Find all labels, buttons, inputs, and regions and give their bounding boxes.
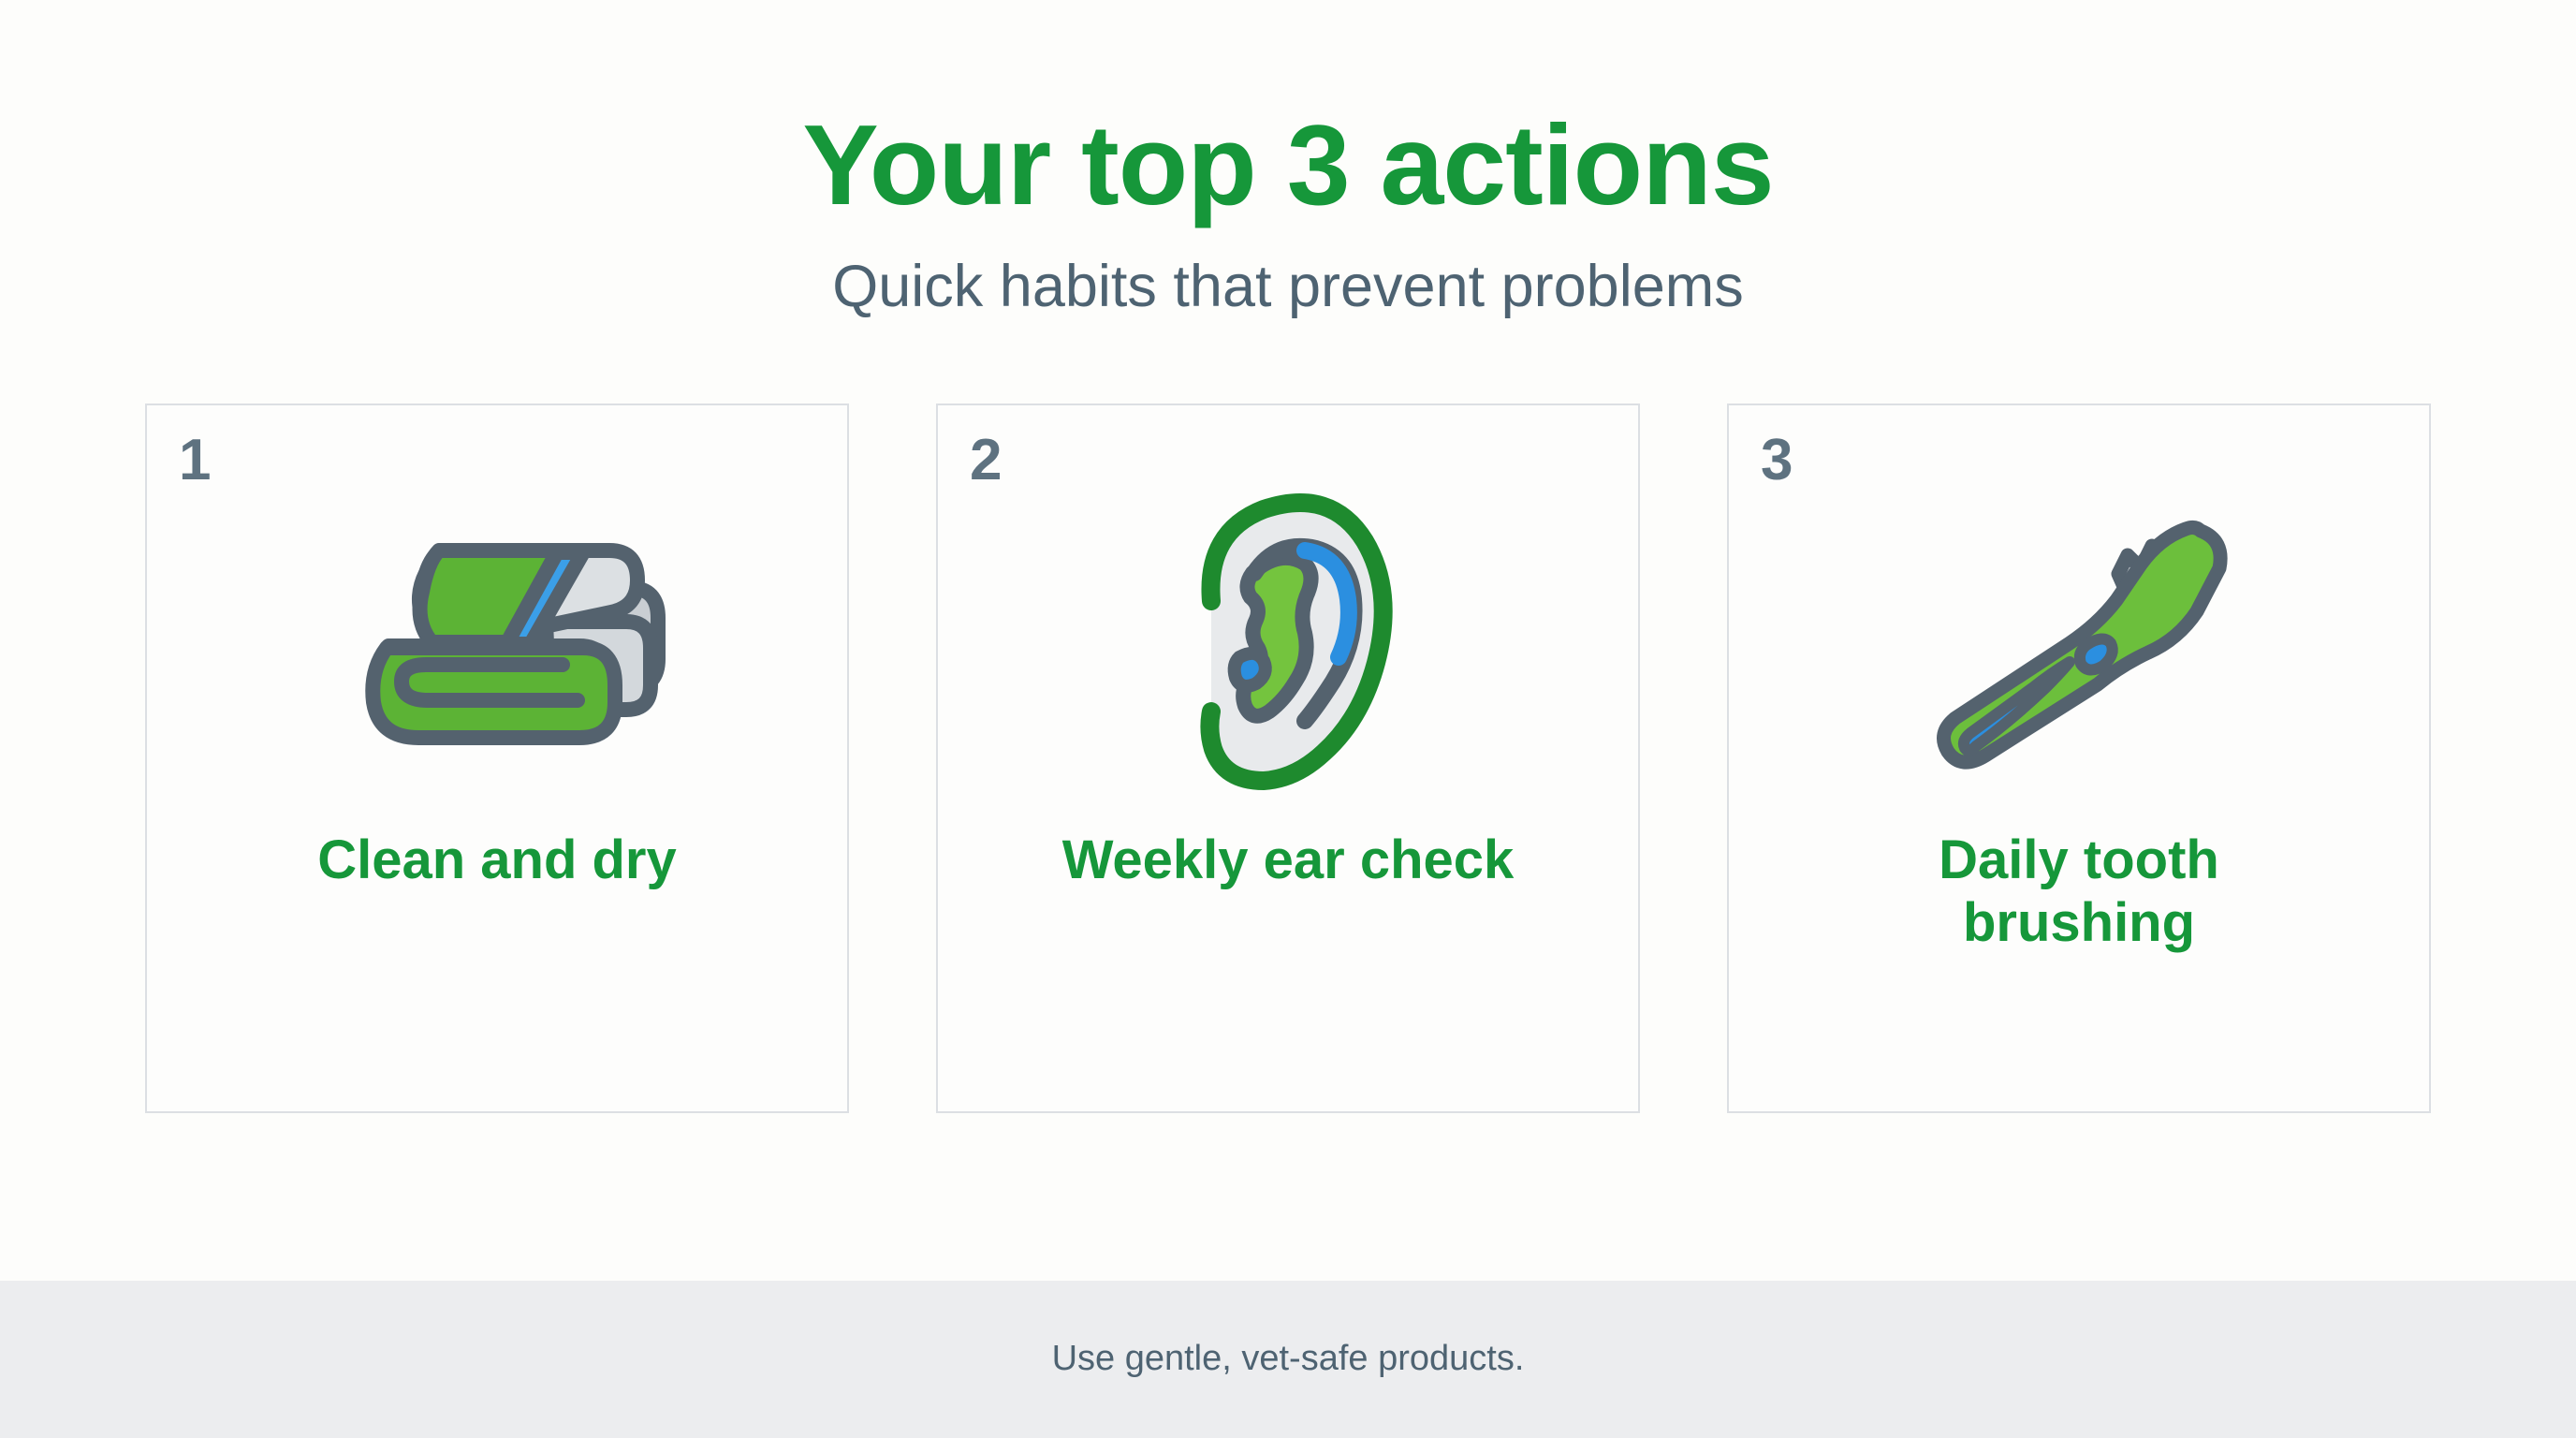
card-number-badge: 3	[1761, 432, 1793, 490]
action-card-3[interactable]: 3 Daily tooth brushing	[1727, 404, 2431, 1113]
card-label: Daily tooth brushing	[1817, 829, 2341, 955]
ear-icon	[1101, 488, 1475, 797]
card-number-badge: 1	[179, 432, 211, 490]
toothbrush-icon	[1892, 488, 2266, 797]
action-card-list: 1	[0, 404, 2576, 1113]
folded-towel-icon	[310, 488, 684, 797]
footer-note: Use gentle, vet-safe products.	[1052, 1338, 1525, 1381]
action-card-1[interactable]: 1	[145, 404, 849, 1113]
card-label: Clean and dry	[235, 829, 759, 891]
page-title: Your top 3 actions	[0, 105, 2576, 225]
card-label: Weekly ear check	[1026, 829, 1550, 891]
slide-root: Your top 3 actions Quick habits that pre…	[0, 0, 2576, 1438]
card-number-badge: 2	[970, 432, 1002, 490]
action-card-2[interactable]: 2 Weekly ear check	[936, 404, 1640, 1113]
footer-bar: Use gentle, vet-safe products.	[0, 1281, 2576, 1438]
header: Your top 3 actions Quick habits that pre…	[0, 0, 2576, 321]
page-subtitle: Quick habits that prevent problems	[0, 253, 2576, 320]
